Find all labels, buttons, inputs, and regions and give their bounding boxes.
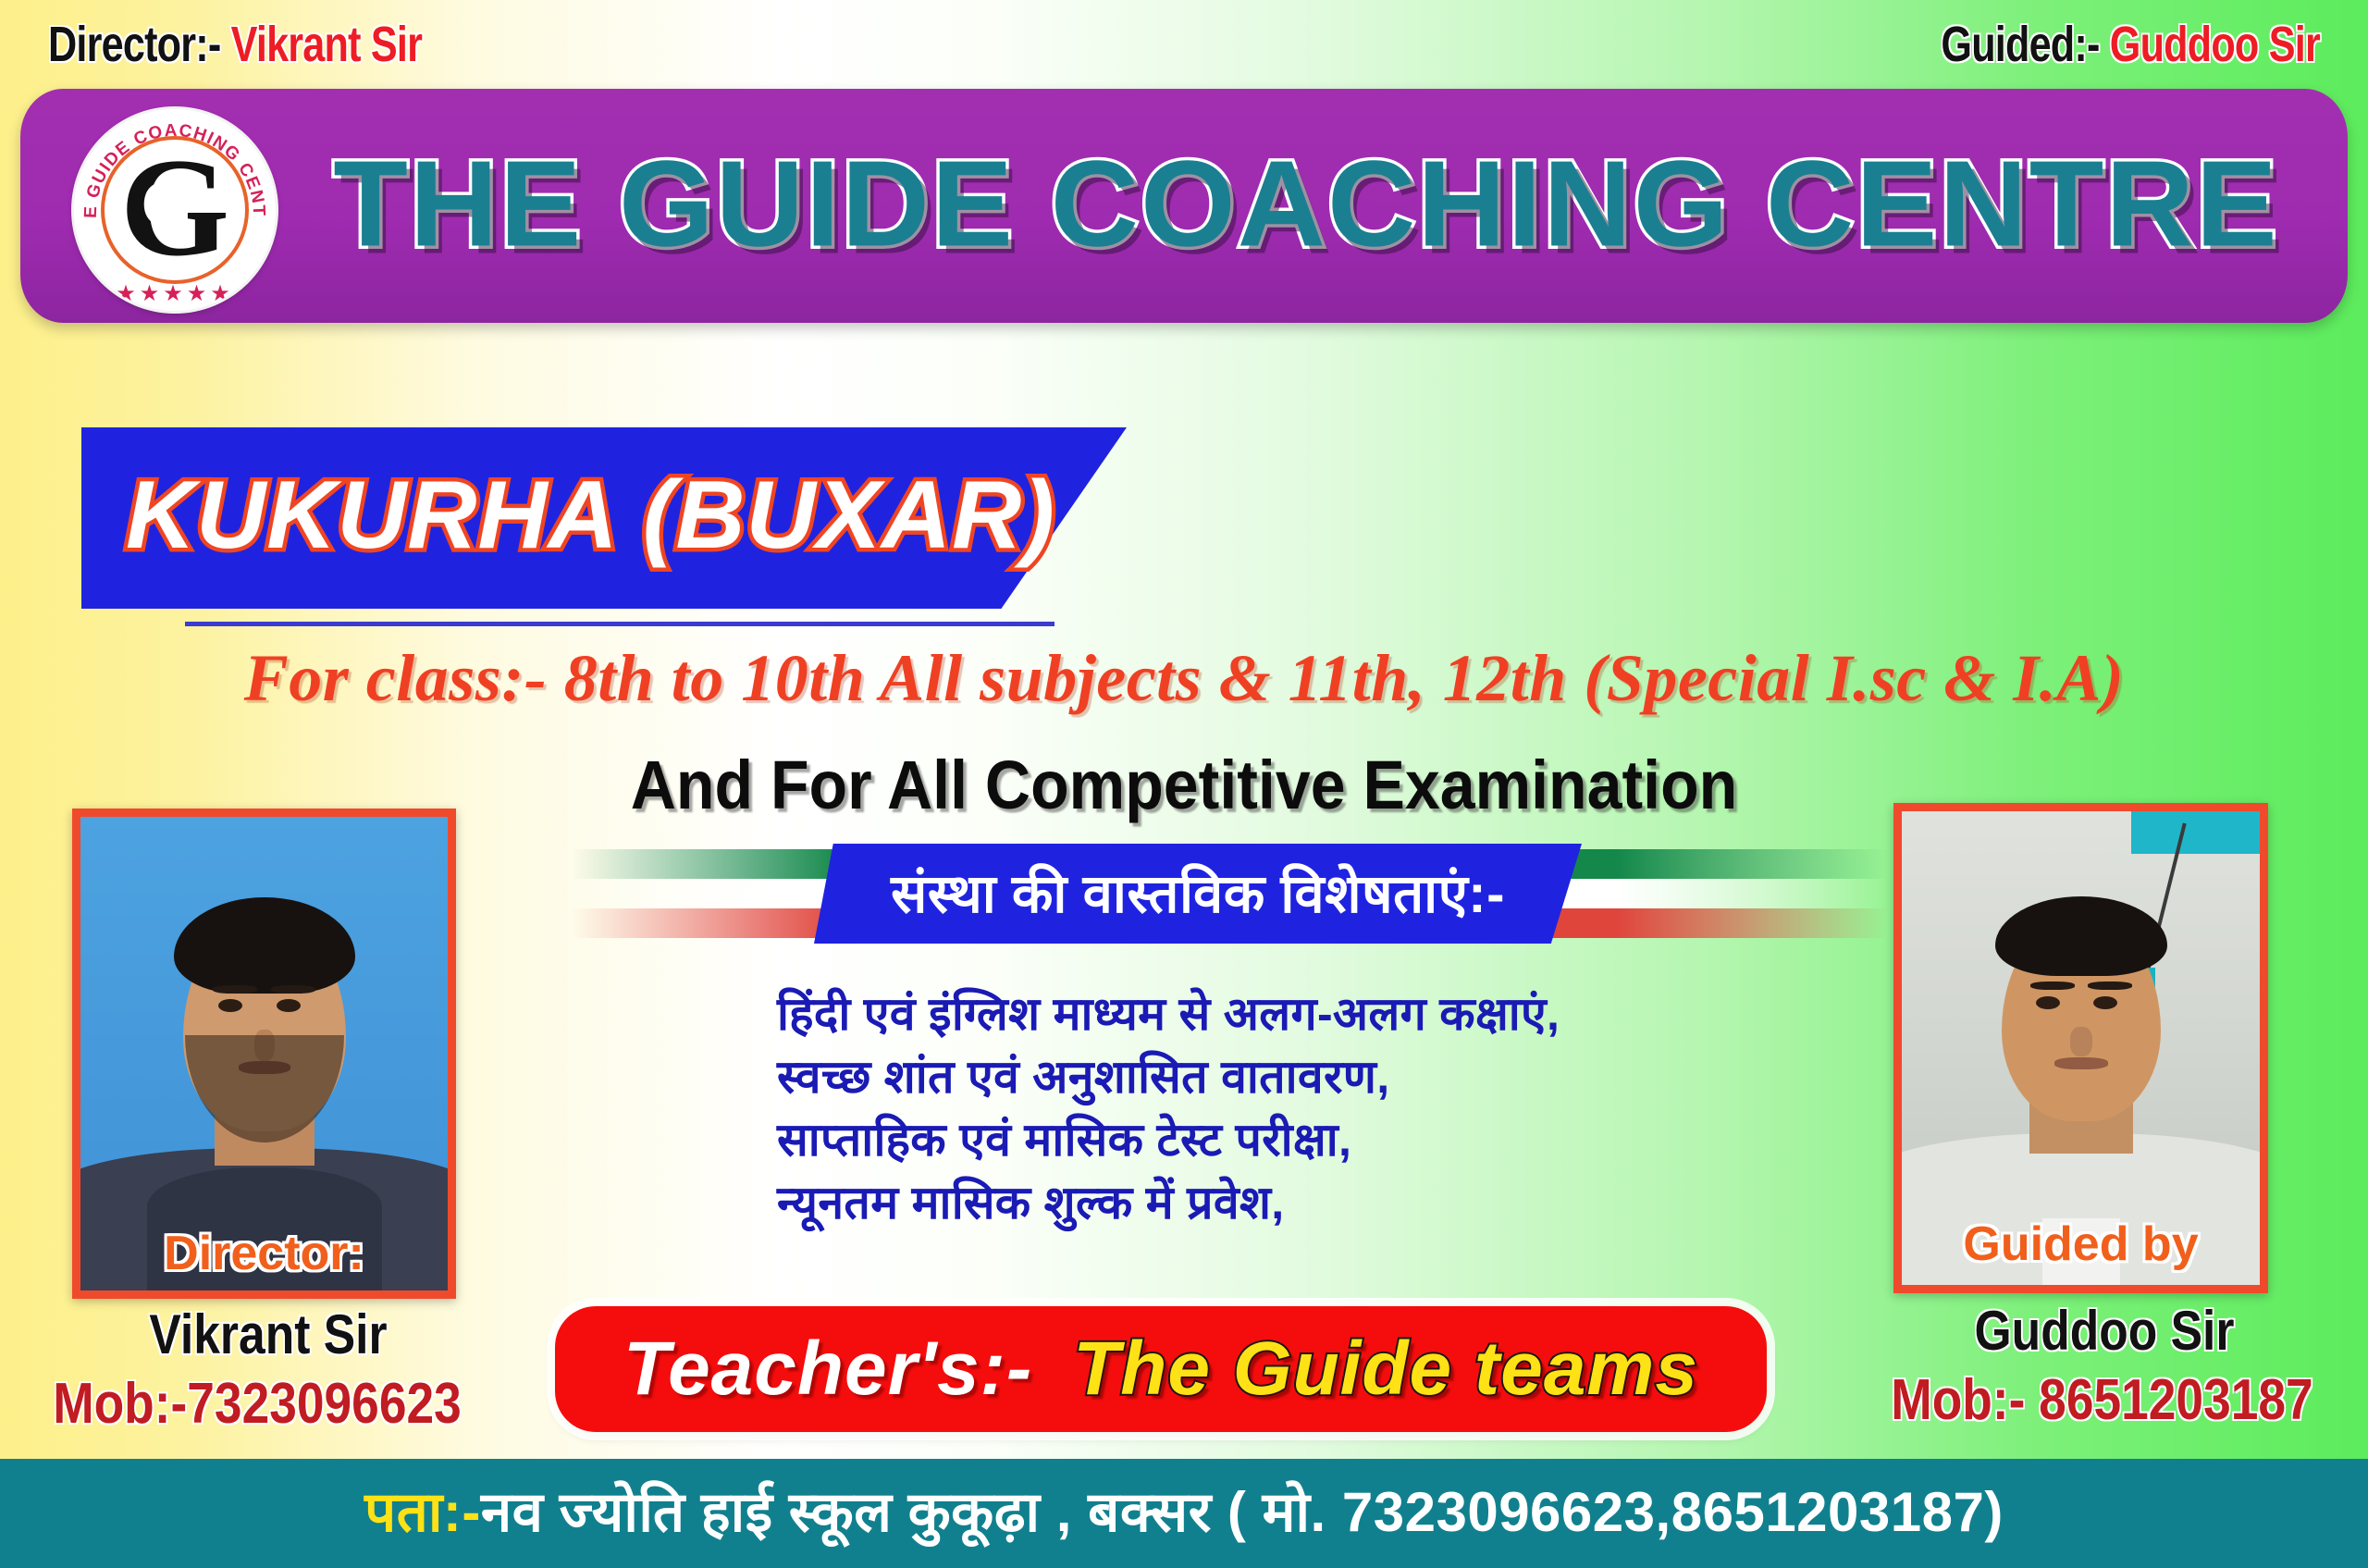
- guide-photo-caption: Guided by: [1902, 1216, 2260, 1272]
- photo-eye-left: [218, 999, 242, 1012]
- photo-nose: [2070, 1027, 2092, 1056]
- location-banner: KUKURHA (BUXAR): [81, 427, 1127, 609]
- list-item: साप्ताहिक एवं मासिक टेस्ट परीक्षा,: [777, 1108, 1609, 1171]
- director-header-label: Director:-: [48, 17, 220, 72]
- guide-photo: Guided by: [1893, 803, 2268, 1293]
- logo-monogram-inner: G: [141, 170, 194, 239]
- list-item: न्यूनतम मासिक शुल्क में प्रवेश,: [777, 1171, 1609, 1234]
- teachers-banner: Teacher's:- The Guide teams: [555, 1306, 1767, 1432]
- director-header-name: Vikrant Sir: [231, 17, 423, 72]
- location-name: KUKURHA (BUXAR): [126, 461, 1055, 571]
- main-banner: THE GUIDE COACHING CENTRE G G ★★★★★ THE …: [20, 89, 2348, 323]
- guided-header-name: Guddoo Sir: [2110, 17, 2320, 72]
- photo-wall-blue-patch: [2131, 811, 2260, 854]
- logo-stars-icon: ★★★★★: [74, 283, 276, 305]
- features-heading: संस्था की वास्तविक विशेषताएं:-: [891, 855, 1505, 928]
- list-item: स्वच्छ शांत एवं अनुशासित वातावरण,: [777, 1045, 1609, 1108]
- guide-mobile[interactable]: Mob:- 8651203187: [1873, 1367, 2331, 1433]
- location-underline-divider: [185, 622, 1054, 626]
- logo-badge-icon: THE GUIDE COACHING CENTRE G G ★★★★★: [74, 109, 276, 311]
- director-header: Director:- Vikrant Sir: [48, 16, 422, 73]
- director-name: Vikrant Sir: [38, 1303, 499, 1366]
- photo-eye-left: [2036, 996, 2060, 1009]
- top-header-strip: Director:- Vikrant Sir Guided:- Guddoo S…: [0, 0, 2368, 89]
- director-photo: Director:: [72, 809, 456, 1299]
- list-item: हिंदी एवं इंग्लिश माध्यम से अलग-अलग कक्ष…: [777, 982, 1609, 1045]
- class-line: For class:- 8th to 10th All subjects & 1…: [0, 640, 2368, 717]
- poster-root: Director:- Vikrant Sir Guided:- Guddoo S…: [0, 0, 2368, 1568]
- director-mobile[interactable]: Mob:-7323096623: [27, 1371, 488, 1437]
- guided-header: Guided:- Guddoo Sir: [1941, 16, 2320, 73]
- footer-address-bar: पता:- नव ज्योति हाई स्कूल कुकूढ़ा , बक्स…: [0, 1459, 2368, 1568]
- photo-brow-left: [2030, 982, 2075, 990]
- photo-brow-right: [271, 985, 315, 994]
- features-heading-banner: संस्था की वास्तविक विशेषताएं:-: [814, 844, 1582, 944]
- photo-brow-left: [213, 985, 257, 994]
- page-title: THE GUIDE COACHING CENTRE: [298, 133, 2314, 273]
- features-list: हिंदी एवं इंग्लिश माध्यम से अलग-अलग कक्ष…: [777, 982, 1609, 1234]
- photo-brow-right: [2088, 982, 2132, 990]
- address-label: पता:-: [364, 1472, 481, 1548]
- address-text: नव ज्योति हाई स्कूल कुकूढ़ा , बक्सर ( मो…: [481, 1472, 2004, 1548]
- teachers-label: Teacher's:-: [623, 1326, 1032, 1413]
- guided-header-label: Guided:-: [1941, 17, 2099, 72]
- teachers-value: The Guide teams: [1073, 1326, 1698, 1413]
- photo-eye-right: [2093, 996, 2117, 1009]
- director-photo-caption: Director:: [80, 1226, 448, 1281]
- guide-name: Guddoo Sir: [1878, 1299, 2331, 1363]
- photo-mouth: [2054, 1057, 2108, 1069]
